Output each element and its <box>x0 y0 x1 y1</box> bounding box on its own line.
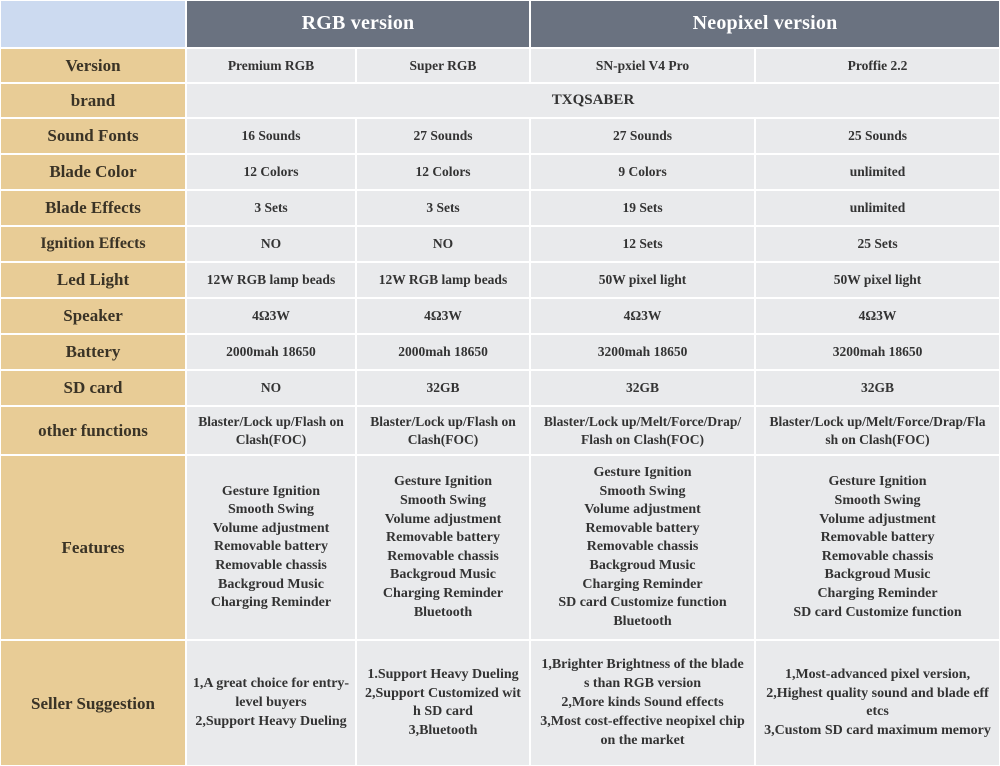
cell-battery-col3: 3200mah 18650 <box>530 334 755 370</box>
cell-battery-col2: 2000mah 18650 <box>356 334 530 370</box>
cell-sound-fonts-col2: 27 Sounds <box>356 118 530 154</box>
cell-led-light-col3: 50W pixel light <box>530 262 755 298</box>
table-row: Sound Fonts 16 Sounds 27 Sounds 27 Sound… <box>0 118 1000 154</box>
cell-speaker-col2: 4Ω3W <box>356 298 530 334</box>
cell-features-col3: Gesture Ignition Smooth Swing Volume adj… <box>530 455 755 640</box>
cell-features-col4: Gesture Ignition Smooth Swing Volume adj… <box>755 455 1000 640</box>
cell-version-col3: SN-pxiel V4 Pro <box>530 48 755 83</box>
cell-other-functions-col3: Blaster/Lock up/Melt/Force/Drap/ Flash o… <box>530 406 755 455</box>
cell-speaker-col4: 4Ω3W <box>755 298 1000 334</box>
cell-version-col1: Premium RGB <box>186 48 356 83</box>
row-label-blade-color: Blade Color <box>0 154 186 190</box>
table-group-header-row: RGB version Neopixel version <box>0 0 1000 48</box>
table-row: Speaker 4Ω3W 4Ω3W 4Ω3W 4Ω3W <box>0 298 1000 334</box>
cell-led-light-col4: 50W pixel light <box>755 262 1000 298</box>
cell-blade-effects-col3: 19 Sets <box>530 190 755 226</box>
cell-ignition-effects-col3: 12 Sets <box>530 226 755 262</box>
row-label-sd-card: SD card <box>0 370 186 406</box>
table-row: other functions Blaster/Lock up/Flash on… <box>0 406 1000 455</box>
cell-led-light-col2: 12W RGB lamp beads <box>356 262 530 298</box>
cell-sound-fonts-col3: 27 Sounds <box>530 118 755 154</box>
table-row: SD card NO 32GB 32GB 32GB <box>0 370 1000 406</box>
cell-blade-effects-col4: unlimited <box>755 190 1000 226</box>
group-header-neopixel-version: Neopixel version <box>530 0 1000 48</box>
table-row: Features Gesture Ignition Smooth Swing V… <box>0 455 1000 640</box>
cell-blade-color-col1: 12 Colors <box>186 154 356 190</box>
cell-ignition-effects-col4: 25 Sets <box>755 226 1000 262</box>
cell-speaker-col1: 4Ω3W <box>186 298 356 334</box>
cell-sd-card-col3: 32GB <box>530 370 755 406</box>
cell-ignition-effects-col2: NO <box>356 226 530 262</box>
row-label-brand: brand <box>0 83 186 118</box>
row-label-sound-fonts: Sound Fonts <box>0 118 186 154</box>
table-row: Ignition Effects NO NO 12 Sets 25 Sets <box>0 226 1000 262</box>
cell-other-functions-col1: Blaster/Lock up/Flash on Clash(FOC) <box>186 406 356 455</box>
cell-seller-suggestion-col1: 1,A great choice for entry- level buyers… <box>186 640 356 766</box>
cell-blade-color-col3: 9 Colors <box>530 154 755 190</box>
cell-version-col4: Proffie 2.2 <box>755 48 1000 83</box>
cell-brand-merged: TXQSABER <box>186 83 1000 118</box>
row-label-blade-effects: Blade Effects <box>0 190 186 226</box>
row-label-seller-suggestion: Seller Suggestion <box>0 640 186 766</box>
table-row: Blade Color 12 Colors 12 Colors 9 Colors… <box>0 154 1000 190</box>
cell-seller-suggestion-col2: 1.Support Heavy Dueling 2,Support Custom… <box>356 640 530 766</box>
cell-sd-card-col2: 32GB <box>356 370 530 406</box>
cell-version-col2: Super RGB <box>356 48 530 83</box>
row-label-version: Version <box>0 48 186 83</box>
cell-blade-color-col2: 12 Colors <box>356 154 530 190</box>
cell-speaker-col3: 4Ω3W <box>530 298 755 334</box>
cell-sd-card-col4: 32GB <box>755 370 1000 406</box>
cell-sound-fonts-col1: 16 Sounds <box>186 118 356 154</box>
cell-features-col2: Gesture Ignition Smooth Swing Volume adj… <box>356 455 530 640</box>
row-label-features: Features <box>0 455 186 640</box>
table-row: brand TXQSABER <box>0 83 1000 118</box>
cell-blade-effects-col2: 3 Sets <box>356 190 530 226</box>
table-row: Led Light 12W RGB lamp beads 12W RGB lam… <box>0 262 1000 298</box>
cell-seller-suggestion-col4: 1,Most-advanced pixel version, 2,Highest… <box>755 640 1000 766</box>
cell-battery-col1: 2000mah 18650 <box>186 334 356 370</box>
row-label-ignition-effects: Ignition Effects <box>0 226 186 262</box>
product-comparison-table: RGB version Neopixel version Version Pre… <box>0 0 1000 766</box>
table-row: Blade Effects 3 Sets 3 Sets 19 Sets unli… <box>0 190 1000 226</box>
table-row: Battery 2000mah 18650 2000mah 18650 3200… <box>0 334 1000 370</box>
cell-blade-effects-col1: 3 Sets <box>186 190 356 226</box>
cell-other-functions-col4: Blaster/Lock up/Melt/Force/Drap/Fla sh o… <box>755 406 1000 455</box>
group-header-rgb-version: RGB version <box>186 0 530 48</box>
cell-other-functions-col2: Blaster/Lock up/Flash on Clash(FOC) <box>356 406 530 455</box>
table-row: Version Premium RGB Super RGB SN-pxiel V… <box>0 48 1000 83</box>
cell-sd-card-col1: NO <box>186 370 356 406</box>
table-row: Seller Suggestion 1,A great choice for e… <box>0 640 1000 766</box>
cell-seller-suggestion-col3: 1,Brighter Brightness of the blade s tha… <box>530 640 755 766</box>
cell-sound-fonts-col4: 25 Sounds <box>755 118 1000 154</box>
row-label-speaker: Speaker <box>0 298 186 334</box>
row-label-battery: Battery <box>0 334 186 370</box>
row-label-led-light: Led Light <box>0 262 186 298</box>
cell-features-col1: Gesture Ignition Smooth Swing Volume adj… <box>186 455 356 640</box>
cell-led-light-col1: 12W RGB lamp beads <box>186 262 356 298</box>
corner-blank-cell <box>0 0 186 48</box>
cell-ignition-effects-col1: NO <box>186 226 356 262</box>
row-label-other-functions: other functions <box>0 406 186 455</box>
cell-blade-color-col4: unlimited <box>755 154 1000 190</box>
cell-battery-col4: 3200mah 18650 <box>755 334 1000 370</box>
